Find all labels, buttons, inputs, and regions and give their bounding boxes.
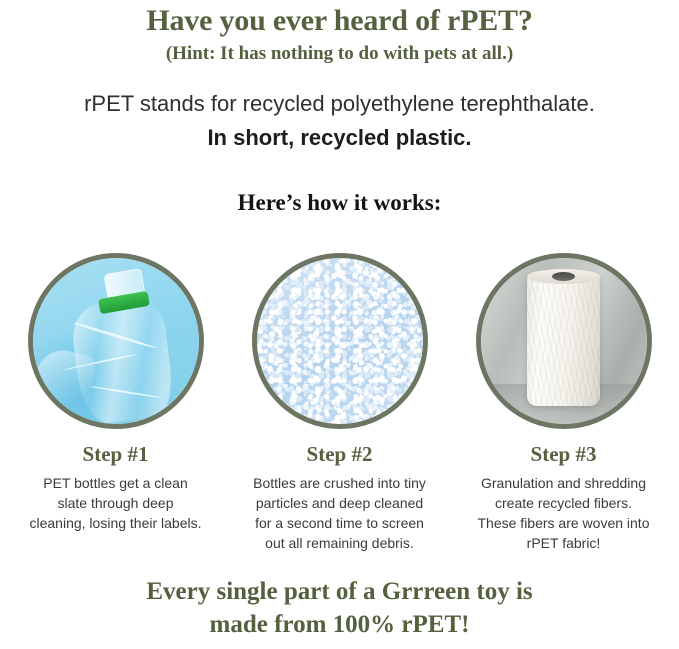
spool-body-shape bbox=[527, 273, 600, 406]
intro-paragraph: rPET stands for recycled polyethylene te… bbox=[0, 88, 679, 154]
step-2-image-frame bbox=[252, 253, 428, 429]
page-subheadline: (Hint: It has nothing to do with pets at… bbox=[0, 43, 679, 66]
infographic-page: Have you ever heard of rPET? (Hint: It h… bbox=[0, 0, 679, 649]
section-heading: Here’s how it works: bbox=[0, 190, 679, 216]
step-item-1: Step #1 PET bottles get a clean slate th… bbox=[8, 253, 223, 534]
intro-line-1: rPET stands for recycled polyethylene te… bbox=[84, 91, 595, 116]
step-3-caption: Granulation and shredding create recycle… bbox=[461, 474, 666, 554]
step-2-label: Step #2 bbox=[307, 442, 373, 467]
step-3-label: Step #3 bbox=[531, 442, 597, 467]
step-2-caption: Bottles are crushed into tiny particles … bbox=[237, 474, 442, 554]
step-1-label: Step #1 bbox=[83, 442, 149, 467]
footer-tagline: Every single part of a Grrreen toy is ma… bbox=[0, 575, 679, 641]
intro-line-2: In short, recycled plastic. bbox=[0, 122, 679, 154]
step-item-2: Step #2 Bottles are crushed into tiny pa… bbox=[232, 253, 447, 554]
step-1-image-frame bbox=[28, 253, 204, 429]
yarn-spool-photo bbox=[481, 258, 647, 424]
step-1-caption: PET bottles get a clean slate through de… bbox=[13, 474, 218, 534]
step-item-3: Step #3 Granulation and shredding create… bbox=[456, 253, 671, 554]
page-headline: Have you ever heard of rPET? bbox=[0, 4, 679, 39]
crushed-pet-bottle-photo bbox=[33, 258, 199, 424]
plastic-flakes-photo bbox=[257, 258, 423, 424]
steps-row: Step #1 PET bottles get a clean slate th… bbox=[0, 253, 679, 554]
step-3-image-frame bbox=[476, 253, 652, 429]
